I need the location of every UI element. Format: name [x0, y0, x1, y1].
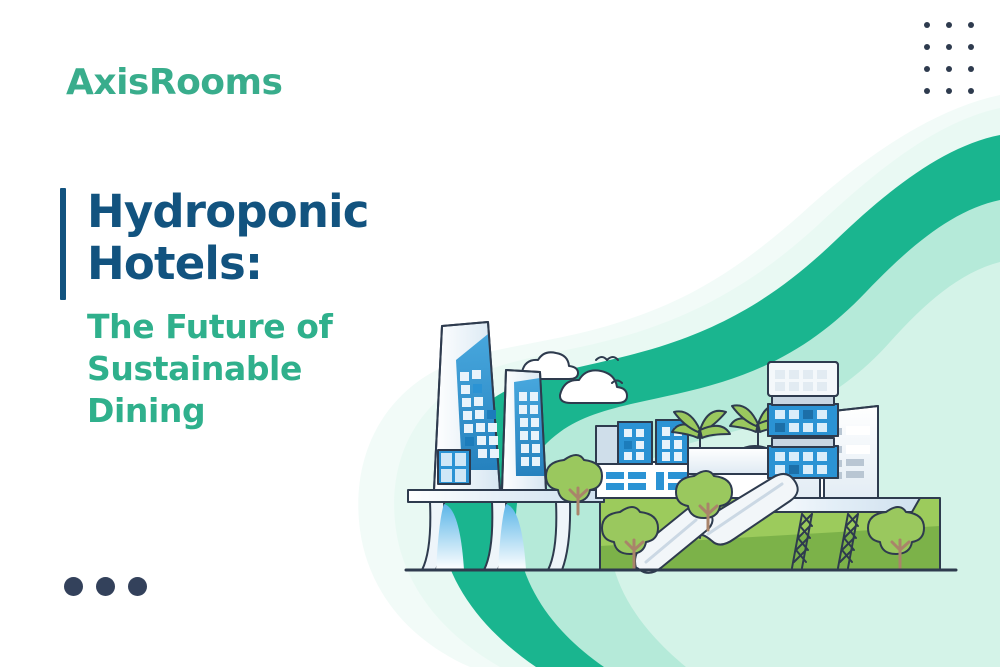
- grid-dot: [946, 44, 952, 50]
- brand-logo[interactable]: AxisRooms: [66, 62, 282, 103]
- grid-dot: [946, 88, 952, 94]
- grid-dot: [968, 66, 974, 72]
- grid-dot: [968, 44, 974, 50]
- accent-bar: [60, 188, 66, 300]
- title-line-1: Hydroponic: [87, 186, 460, 238]
- bottom-dot: [96, 577, 115, 596]
- dot-grid-icon: [916, 14, 982, 102]
- headline-block: Hydroponic Hotels: The Future of Sustain…: [60, 186, 460, 431]
- three-dots-icon: [64, 577, 147, 596]
- subtitle-line-2: Sustainable: [87, 348, 460, 390]
- eco-city-illustration: [400, 300, 980, 600]
- subtitle-line-1: The Future of: [87, 306, 460, 348]
- tree-left-plaza: [546, 455, 602, 514]
- subtitle-line-3: Dining: [87, 390, 460, 432]
- blue-building-a: [596, 422, 652, 464]
- grid-dot: [924, 22, 930, 28]
- grid-dot: [968, 88, 974, 94]
- grid-dot: [924, 88, 930, 94]
- bottom-dot: [64, 577, 83, 596]
- grid-dot: [924, 44, 930, 50]
- grid-dot: [968, 22, 974, 28]
- grid-dot: [946, 66, 952, 72]
- page-subtitle: The Future of Sustainable Dining: [60, 306, 460, 431]
- title-line-2: Hotels:: [87, 238, 460, 290]
- grid-dot: [946, 22, 952, 28]
- page-title: Hydroponic Hotels:: [60, 186, 460, 290]
- bottom-dot: [128, 577, 147, 596]
- slide-canvas: AxisRooms Hydroponic Hotels: The Future …: [0, 0, 1000, 667]
- tower-mid-left: [502, 370, 546, 490]
- grid-dot: [924, 66, 930, 72]
- tower-left-lower-windows: [438, 450, 470, 484]
